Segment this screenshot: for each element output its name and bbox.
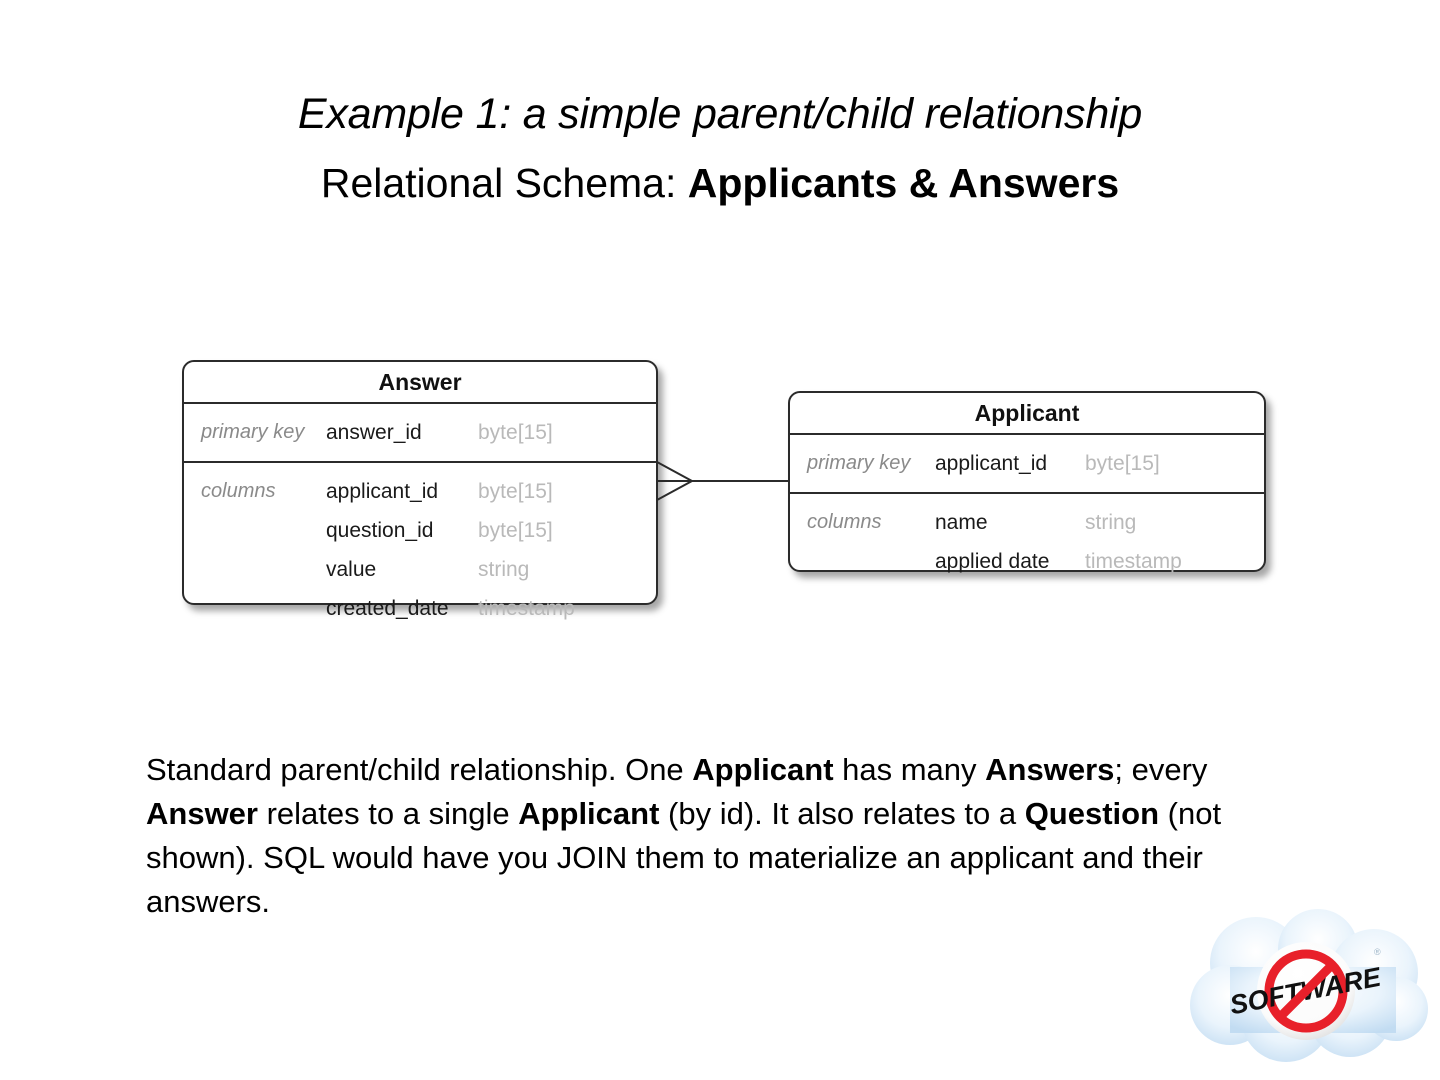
table-row: question_id byte[15] <box>326 511 656 550</box>
entity-applicant-columns-label: columns <box>790 503 935 581</box>
body-text-run: has many <box>834 752 986 787</box>
entity-applicant: Applicant primary key applicant_id byte[… <box>788 391 1266 572</box>
entity-answer-columns-label: columns <box>184 472 326 628</box>
relationship-connector-crowsfoot <box>640 440 810 530</box>
entity-answer-primary-key-section: primary key answer_id byte[15] <box>184 404 656 463</box>
field-name: applicant_id <box>935 444 1085 483</box>
body-emphasis: Answers <box>985 752 1114 787</box>
table-row: applicant_id byte[15] <box>326 472 656 511</box>
field-type: timestamp <box>478 589 628 628</box>
body-text-run: Standard parent/child relationship. One <box>146 752 692 787</box>
field-name: answer_id <box>326 413 478 452</box>
field-type: timestamp <box>1085 542 1235 581</box>
body-paragraph: Standard parent/child relationship. One … <box>146 748 1306 924</box>
table-row: value string <box>326 550 656 589</box>
entity-applicant-columns-section: columns name string applied date timesta… <box>790 494 1264 590</box>
entity-applicant-pk-label: primary key <box>790 444 935 483</box>
body-emphasis: Answer <box>146 796 258 831</box>
registered-mark: ® <box>1374 947 1381 957</box>
no-software-cloud-logo: SOFTWARE ® <box>1178 905 1440 1080</box>
field-name: value <box>326 550 478 589</box>
entity-answer-columns-section: columns applicant_id byte[15] question_i… <box>184 463 656 637</box>
entity-applicant-primary-key-section: primary key applicant_id byte[15] <box>790 435 1264 494</box>
entity-answer-pk-label: primary key <box>184 413 326 452</box>
entity-applicant-column-fields: name string applied date timestamp <box>935 503 1264 581</box>
body-text-run: ; every <box>1114 752 1207 787</box>
entity-applicant-title: Applicant <box>790 393 1264 435</box>
body-text-run: (by id). It also relates to a <box>659 796 1024 831</box>
field-name: applicant_id <box>326 472 478 511</box>
table-row: applicant_id byte[15] <box>935 444 1264 483</box>
table-row: name string <box>935 503 1264 542</box>
entity-answer-column-fields: applicant_id byte[15] question_id byte[1… <box>326 472 656 628</box>
field-name: question_id <box>326 511 478 550</box>
field-type: byte[15] <box>478 472 628 511</box>
table-row: answer_id byte[15] <box>326 413 656 452</box>
field-type: byte[15] <box>1085 444 1235 483</box>
field-name: name <box>935 503 1085 542</box>
field-type: string <box>1085 503 1235 542</box>
field-name: applied date <box>935 542 1085 581</box>
field-name: created_date <box>326 589 478 628</box>
entity-answer: Answer primary key answer_id byte[15] co… <box>182 360 658 605</box>
body-emphasis: Applicant <box>518 796 659 831</box>
table-row: created_date timestamp <box>326 589 656 628</box>
entity-applicant-pk-fields: applicant_id byte[15] <box>935 444 1264 483</box>
field-type: byte[15] <box>478 511 628 550</box>
body-text-run: relates to a single <box>258 796 518 831</box>
body-emphasis: Applicant <box>692 752 833 787</box>
body-emphasis: Question <box>1025 796 1159 831</box>
field-type: string <box>478 550 628 589</box>
entity-answer-title: Answer <box>184 362 656 404</box>
field-type: byte[15] <box>478 413 628 452</box>
table-row: applied date timestamp <box>935 542 1264 581</box>
entity-answer-pk-fields: answer_id byte[15] <box>326 413 656 452</box>
